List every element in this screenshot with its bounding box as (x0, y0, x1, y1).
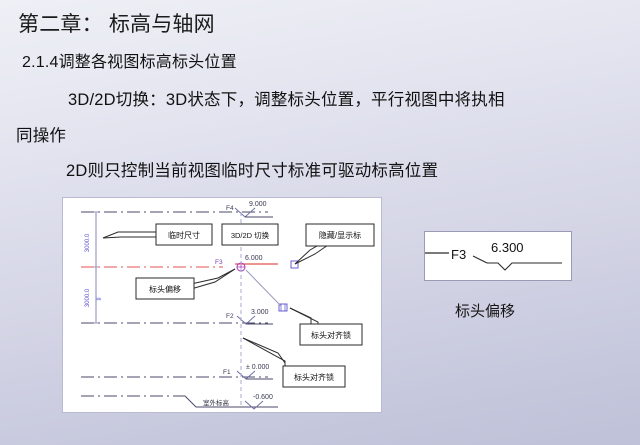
detail-offset-leader (473, 256, 487, 263)
callout-hide-show[interactable]: 隐藏/显示标 (306, 224, 374, 246)
leader-align-lock-2 (290, 308, 318, 324)
body-text-line-3: 2D则只控制当前视图临时尺寸标准可驱动标高位置 (66, 157, 438, 181)
ground-value: -0.600 (253, 394, 273, 401)
level-value-f3: 6.000 (245, 255, 263, 262)
align-lock-connector (246, 270, 281, 306)
page-title: 第二章： 标高与轴网 (18, 8, 215, 38)
callout-head-offset[interactable]: 标头偏移 (136, 278, 194, 299)
detail-level-marker (487, 263, 562, 270)
detail-panel-caption: 标头偏移 (455, 300, 515, 321)
level-value-f1: ± 0.000 (246, 364, 269, 371)
callout-align-line-label: 标头对齐锁 (294, 372, 334, 382)
level-head-detail-svg: F3 6.300 (425, 232, 571, 280)
callout-temp-dimension[interactable]: 临时尺寸 (156, 224, 212, 245)
level-name-f4: F4 (226, 205, 234, 212)
dimension-value-lower: 3000.0 (85, 288, 91, 307)
level-marker-f1 (237, 371, 255, 379)
ground-marker (245, 401, 263, 409)
level-name-f3: F3 (215, 259, 223, 266)
level-value-f2: 3.000 (251, 309, 269, 316)
callout-hide-show-label: 隐藏/显示标 (319, 230, 361, 240)
dimension-value-upper: 3000.0 (85, 233, 91, 252)
ground-label: 室外标高 (203, 398, 230, 407)
detail-level-value: 6.300 (491, 240, 524, 255)
callout-align-lock[interactable]: 标头对齐锁 (300, 324, 362, 345)
section-heading: 2.1.4调整各视图标高标头位置 (22, 48, 237, 72)
leader-head-offset (191, 269, 235, 284)
dimension-tag-lower: II (97, 297, 103, 301)
callout-align-line[interactable]: 标头对齐锁 (283, 366, 345, 387)
cad-diagram-svg: 3000.0 3000.0 II F4 9.000 F3 6.000 F2 3.… (63, 198, 381, 412)
level-value-f4: 9.000 (249, 201, 267, 208)
callout-align-lock-label: 标头对齐锁 (311, 330, 351, 340)
detail-level-name: F3 (451, 247, 466, 262)
leader-align-line-2 (243, 338, 285, 366)
cad-diagram-panel: 3000.0 3000.0 II F4 9.000 F3 6.000 F2 3.… (62, 197, 382, 413)
leader-align-lock (290, 308, 311, 324)
callout-head-offset-label: 标头偏移 (149, 284, 181, 294)
level-name-f1: F1 (223, 369, 231, 376)
body-text-line-2: 同操作 (16, 122, 66, 146)
level-name-f2: F2 (226, 313, 234, 320)
callout-temp-dimension-label: 临时尺寸 (168, 230, 200, 240)
leader-temp-dimension-2 (103, 237, 156, 238)
body-text-line-1: 3D/2D切换：3D状态下，调整标头位置，平行视图中将执相 (68, 86, 505, 110)
level-head-detail-panel: F3 6.300 (424, 231, 572, 281)
slide-canvas: 第二章： 标高与轴网 2.1.4调整各视图标高标头位置 3D/2D切换：3D状态… (0, 0, 640, 445)
callout-3d-2d-label: 3D/2D 切换 (231, 230, 270, 240)
callout-3d-2d[interactable]: 3D/2D 切换 (222, 224, 278, 245)
